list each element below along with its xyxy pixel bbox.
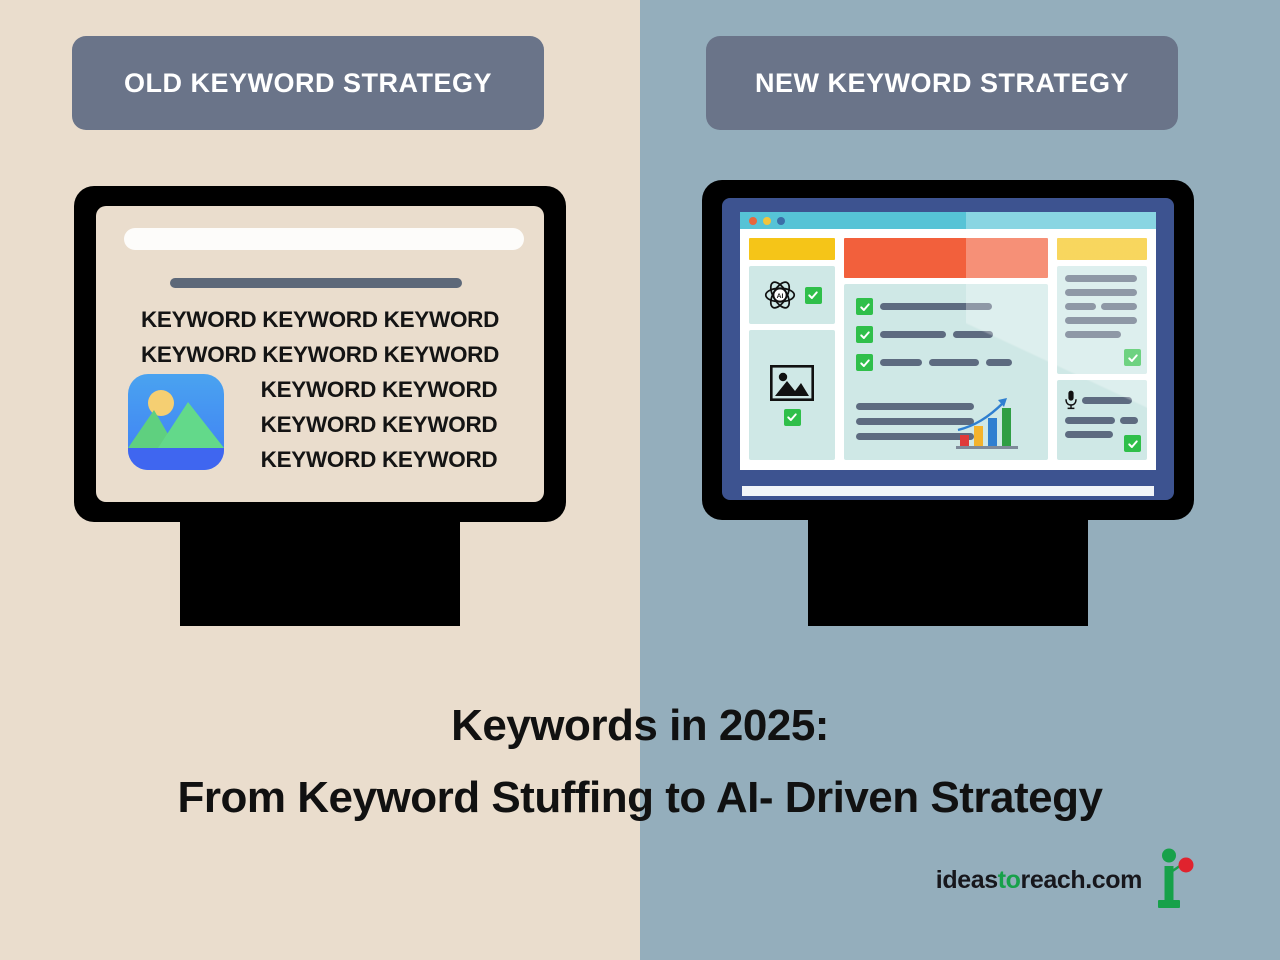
text-line <box>1120 417 1138 424</box>
text-line <box>880 331 946 338</box>
text-line <box>1065 317 1137 324</box>
column-header-yellow <box>1057 238 1147 260</box>
keyword-line: KEYWORD KEYWORD KEYWORD <box>96 302 544 337</box>
check-icon <box>1124 435 1141 452</box>
result-underline-bar <box>170 278 462 288</box>
text-line <box>1065 331 1121 338</box>
page-title: Keywords in 2025: From Keyword Stuffing … <box>0 690 1280 834</box>
image-icon <box>770 365 814 401</box>
keyword-line: KEYWORD KEYWORD KEYWORD <box>96 337 544 372</box>
voice-search-panel <box>1057 380 1147 460</box>
text-line <box>929 359 979 366</box>
content-rows-panel <box>1057 266 1147 374</box>
keyword-stuffing-text: KEYWORD KEYWORD KEYWORD KEYWORD KEYWORD … <box>96 302 544 477</box>
logo-text-part1: ideas <box>936 866 998 894</box>
text-line <box>1065 275 1137 282</box>
close-icon[interactable] <box>749 217 757 225</box>
maximize-icon[interactable] <box>777 217 785 225</box>
logo-text-part2: reach.com <box>1021 866 1142 894</box>
checked-row <box>856 354 1036 371</box>
checked-row <box>856 326 1036 343</box>
check-icon <box>856 354 873 371</box>
check-icon <box>856 298 873 315</box>
monitor-old-strategy: KEYWORD KEYWORD KEYWORD KEYWORD KEYWORD … <box>74 186 566 626</box>
ai-panel: AI <box>749 266 835 324</box>
dashboard-column-left: AI <box>749 238 835 460</box>
text-row <box>1065 417 1139 424</box>
text-row <box>1065 289 1139 296</box>
text-line <box>1065 431 1113 438</box>
text-line <box>1065 417 1115 424</box>
svg-text:AI: AI <box>776 293 783 300</box>
text-row <box>1065 317 1139 324</box>
text-line <box>986 359 1012 366</box>
keyword-line: KEYWORD KEYWORD <box>96 442 544 477</box>
badge-old-label: OLD KEYWORD STRATEGY <box>124 68 492 99</box>
checked-row <box>856 298 1036 315</box>
text-row <box>1065 331 1139 338</box>
browser-titlebar <box>740 212 1156 229</box>
check-icon <box>784 409 801 426</box>
monitor-left-stand <box>180 522 460 626</box>
brand-logo-text: ideastoreach.com <box>936 866 1142 895</box>
infographic-canvas: OLD KEYWORD STRATEGY NEW KEYWORD STRATEG… <box>0 0 1280 960</box>
laptop-base-strip <box>742 486 1154 496</box>
keyword-line: KEYWORD KEYWORD <box>96 372 544 407</box>
column-header-orange <box>844 238 1048 278</box>
ai-atom-icon: AI <box>763 280 797 310</box>
text-row <box>1065 275 1139 282</box>
badge-old-keyword-strategy: OLD KEYWORD STRATEGY <box>72 36 544 130</box>
checklist-panel <box>844 284 1048 460</box>
text-line <box>1101 303 1137 310</box>
brand-logo[interactable]: ideastoreach.com <box>936 848 1196 912</box>
text-line <box>1065 289 1137 296</box>
image-optimization-panel <box>749 330 835 460</box>
check-icon <box>856 326 873 343</box>
ideastoreach-i-mark <box>1156 848 1196 912</box>
dashboard-column-middle <box>844 238 1048 460</box>
search-bar[interactable] <box>124 228 524 250</box>
text-row <box>1065 390 1139 410</box>
growth-bar-chart <box>954 390 1026 450</box>
new-strategy-screen: AI <box>722 198 1174 500</box>
dashboard-board: AI <box>740 229 1156 470</box>
logo-i-glyph <box>1156 848 1196 912</box>
text-line <box>880 359 922 366</box>
microphone-icon <box>1065 390 1077 410</box>
monitor-right-stand <box>808 520 1088 626</box>
monitor-new-strategy: AI <box>702 180 1194 626</box>
minimize-icon[interactable] <box>763 217 771 225</box>
badge-new-label: NEW KEYWORD STRATEGY <box>755 68 1129 99</box>
text-row <box>1065 303 1139 310</box>
check-icon <box>1124 349 1141 366</box>
text-line <box>880 303 992 310</box>
dashboard-column-right <box>1057 238 1147 460</box>
title-line-2: From Keyword Stuffing to AI- Driven Stra… <box>0 762 1280 834</box>
text-line <box>1065 303 1096 310</box>
logo-text-accent: to <box>998 866 1021 894</box>
text-line <box>1082 397 1132 404</box>
browser-window: AI <box>740 212 1156 470</box>
keyword-line: KEYWORD KEYWORD <box>96 407 544 442</box>
text-line <box>953 331 993 338</box>
check-icon <box>805 287 822 304</box>
title-line-1: Keywords in 2025: <box>0 690 1280 762</box>
badge-new-keyword-strategy: NEW KEYWORD STRATEGY <box>706 36 1178 130</box>
old-strategy-screen: KEYWORD KEYWORD KEYWORD KEYWORD KEYWORD … <box>96 206 544 502</box>
column-header-yellow <box>749 238 835 260</box>
